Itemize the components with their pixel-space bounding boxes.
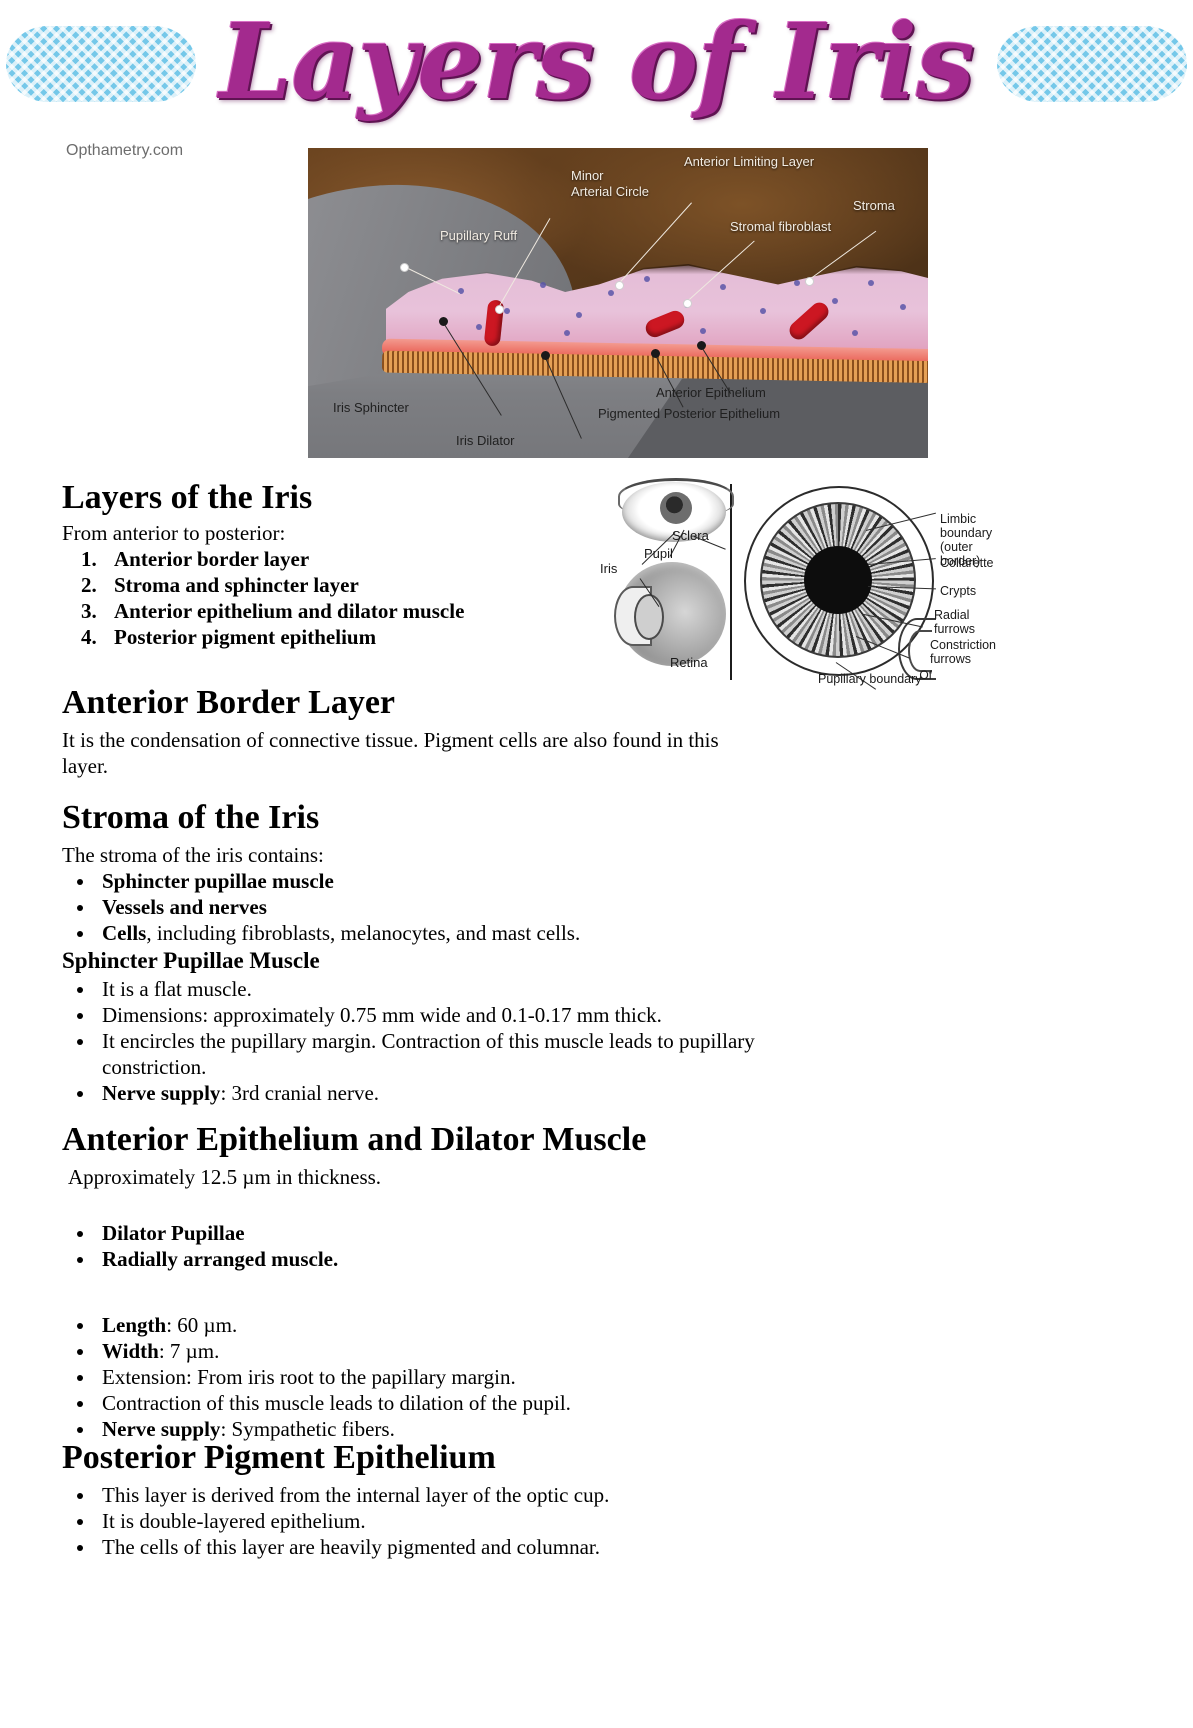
stromal-cell-dot bbox=[760, 308, 766, 314]
section-anterior-border-layer: Anterior Border Layer It is the condensa… bbox=[62, 683, 762, 779]
page-header: Layers of Iris bbox=[0, 0, 1193, 138]
stromal-cell-dot bbox=[476, 324, 482, 330]
paragraph-anterior-border-layer: It is the condensation of connective tis… bbox=[62, 727, 762, 779]
stromal-cell-dot bbox=[564, 330, 570, 336]
leader-node bbox=[541, 351, 550, 360]
section-stroma-of-the-iris: Stroma of the Iris The stroma of the iri… bbox=[62, 798, 782, 1106]
eye-anatomy-figure: Sclera Pupil Iris Retina Limbic boundary… bbox=[588, 478, 993, 686]
stromal-cell-dot bbox=[900, 304, 906, 310]
eye-label-sclera: Sclera bbox=[672, 528, 709, 543]
section-anterior-epithelium-and-dilator-muscle: Anterior Epithelium and Dilator Muscle A… bbox=[62, 1120, 782, 1442]
iris-label-collarette: Collarette bbox=[940, 556, 994, 570]
stromal-cell-dot bbox=[832, 298, 838, 304]
list-item-rest: : 7 µm. bbox=[159, 1339, 220, 1363]
heading-posterior-pigment-epithelium: Posterior Pigment Epithelium bbox=[62, 1438, 496, 1478]
list-item: Radially arranged muscle. bbox=[96, 1246, 782, 1272]
list-item: This layer is derived from the internal … bbox=[96, 1482, 782, 1508]
list-dilator-overview: Dilator Pupillae Radially arranged muscl… bbox=[62, 1220, 782, 1272]
intro-layers-of-the-iris: From anterior to posterior: bbox=[62, 520, 582, 546]
leader-node bbox=[615, 281, 624, 290]
stromal-cell-dot bbox=[700, 328, 706, 334]
list-item-bold: Cells bbox=[102, 921, 146, 945]
iris-label-pupillary-boundary: Pupillary boundary bbox=[818, 672, 922, 686]
iris-side-tag: Of bbox=[919, 668, 932, 682]
page-title: Layers of Iris bbox=[0, 2, 1193, 122]
list-sphincter-pupillae-details: It is a flat muscle. Dimensions: approxi… bbox=[62, 976, 782, 1106]
section-posterior-pigment-epithelium: Posterior Pigment Epithelium This layer … bbox=[62, 1438, 782, 1560]
heading-anterior-epithelium-and-dilator-muscle: Anterior Epithelium and Dilator Muscle bbox=[62, 1120, 646, 1160]
list-item: It is a flat muscle. bbox=[96, 976, 782, 1002]
histology-label-anterior-epithelium: Anterior Epithelium bbox=[656, 385, 766, 401]
leader-node bbox=[697, 341, 706, 350]
histology-label-pupillary-ruff: Pupillary Ruff bbox=[440, 228, 517, 244]
leader-node bbox=[439, 317, 448, 326]
list-item-bold: Nerve supply bbox=[102, 1081, 220, 1105]
list-item-bold: Dilator Pupillae bbox=[102, 1221, 245, 1245]
list-item-rest: It is double-layered epithelium. bbox=[102, 1509, 366, 1533]
heading-layers-of-the-iris: Layers of the Iris bbox=[62, 478, 312, 518]
stromal-cell-dot bbox=[608, 290, 614, 296]
pupil-shape bbox=[804, 546, 872, 614]
list-item-rest: This layer is derived from the internal … bbox=[102, 1483, 609, 1507]
iris-label-crypts: Crypts bbox=[940, 584, 976, 598]
list-iris-layers: Anterior border layer Stroma and sphinct… bbox=[62, 546, 582, 650]
leader-node bbox=[683, 299, 692, 308]
list-item: It is double-layered epithelium. bbox=[96, 1508, 782, 1534]
stromal-cell-dot bbox=[540, 282, 546, 288]
iris-front-view-figure: Limbic boundary (outer border) Collarett… bbox=[744, 486, 936, 678]
heading-anterior-border-layer: Anterior Border Layer bbox=[62, 683, 395, 723]
histology-label-iris-sphincter: Iris Sphincter bbox=[333, 400, 409, 416]
list-item: Extension: From iris root to the papilla… bbox=[96, 1364, 782, 1390]
stromal-cell-dot bbox=[504, 308, 510, 314]
list-item: Sphincter pupillae muscle bbox=[96, 868, 782, 894]
intro-anterior-epithelium: Approximately 12.5 µm in thickness. bbox=[62, 1164, 782, 1190]
list-item-bold: Vessels and nerves bbox=[102, 895, 267, 919]
list-item: Length: 60 µm. bbox=[96, 1312, 782, 1338]
list-item: Stroma and sphincter layer bbox=[102, 572, 582, 598]
list-item-rest: Contraction of this muscle leads to dila… bbox=[102, 1391, 571, 1415]
section-layers-of-the-iris: Layers of the Iris From anterior to post… bbox=[62, 478, 582, 650]
stromal-cell-dot bbox=[720, 284, 726, 290]
site-watermark: Opthametry.com bbox=[66, 142, 183, 160]
eye-label-pupil: Pupil bbox=[644, 546, 673, 561]
list-stroma-contents: Sphincter pupillae muscle Vessels and ne… bbox=[62, 868, 782, 946]
iris-label-radial-furrows: Radial furrows bbox=[934, 608, 975, 636]
leader-node bbox=[495, 305, 504, 314]
histology-label-pigmented-posterior-epithelium: Pigmented Posterior Epithelium bbox=[598, 406, 780, 422]
stromal-cell-dot bbox=[576, 312, 582, 318]
list-item: Posterior pigment epithelium bbox=[102, 624, 582, 650]
list-item-bold: Length bbox=[102, 1313, 166, 1337]
histology-label-stromal-fibroblast: Stromal fibroblast bbox=[730, 219, 831, 235]
list-item-rest: Extension: From iris root to the papilla… bbox=[102, 1365, 516, 1389]
list-item: Contraction of this muscle leads to dila… bbox=[96, 1390, 782, 1416]
list-item-rest: It is a flat muscle. bbox=[102, 977, 252, 1001]
stromal-cell-dot bbox=[868, 280, 874, 286]
list-dilator-details: Length: 60 µm. Width: 7 µm. Extension: F… bbox=[62, 1312, 782, 1442]
histology-label-stroma: Stroma bbox=[853, 198, 895, 214]
list-item-rest: : 3rd cranial nerve. bbox=[220, 1081, 379, 1105]
list-item: Anterior border layer bbox=[102, 546, 582, 572]
stromal-cell-dot bbox=[794, 280, 800, 286]
subheading-sphincter-pupillae-muscle: Sphincter Pupillae Muscle bbox=[62, 946, 782, 976]
leader-node bbox=[651, 349, 660, 358]
list-item-bold: Sphincter pupillae muscle bbox=[102, 869, 334, 893]
list-item-rest: , including fibroblasts, melanocytes, an… bbox=[146, 921, 580, 945]
list-item-rest: The cells of this layer are heavily pigm… bbox=[102, 1535, 600, 1559]
list-item-rest: Dimensions: approximately 0.75 mm wide a… bbox=[102, 1003, 662, 1027]
eye-cross-section-icon bbox=[618, 562, 726, 666]
list-item-rest: It encircles the pupillary margin. Contr… bbox=[102, 1029, 755, 1079]
list-posterior-pigment-epithelium: This layer is derived from the internal … bbox=[62, 1482, 782, 1560]
list-item: Dimensions: approximately 0.75 mm wide a… bbox=[96, 1002, 782, 1028]
iris-label-constriction-furrows: Constriction furrows bbox=[930, 638, 996, 666]
heading-stroma-of-the-iris: Stroma of the Iris bbox=[62, 798, 319, 838]
list-item: The cells of this layer are heavily pigm… bbox=[96, 1534, 782, 1560]
list-item: It encircles the pupillary margin. Contr… bbox=[96, 1028, 782, 1080]
eye-label-iris: Iris bbox=[600, 561, 617, 576]
list-item: Vessels and nerves bbox=[96, 894, 782, 920]
list-item-rest: : 60 µm. bbox=[166, 1313, 237, 1337]
intro-stroma-of-the-iris: The stroma of the iris contains: bbox=[62, 842, 782, 868]
figure-divider bbox=[730, 484, 732, 680]
list-item-bold: Width bbox=[102, 1339, 159, 1363]
list-item: Nerve supply: 3rd cranial nerve. bbox=[96, 1080, 782, 1106]
eye-label-retina: Retina bbox=[670, 655, 708, 670]
list-item-bold: Radially arranged muscle. bbox=[102, 1247, 338, 1271]
leader-node bbox=[805, 277, 814, 286]
stromal-cell-dot bbox=[644, 276, 650, 282]
stromal-cell-dot bbox=[852, 330, 858, 336]
iris-histology-figure: Pupillary Ruff Minor Arterial Circle Ant… bbox=[308, 148, 928, 458]
list-item: Dilator Pupillae bbox=[96, 1220, 782, 1246]
list-item: Cells, including fibroblasts, melanocyte… bbox=[96, 920, 782, 946]
list-item: Anterior epithelium and dilator muscle bbox=[102, 598, 582, 624]
list-item: Width: 7 µm. bbox=[96, 1338, 782, 1364]
leader-node bbox=[400, 263, 409, 272]
histology-label-iris-dilator: Iris Dilator bbox=[456, 433, 515, 449]
histology-label-minor-arterial-circle: Minor Arterial Circle bbox=[571, 168, 649, 200]
histology-label-anterior-limiting-layer: Anterior Limiting Layer bbox=[684, 154, 814, 170]
